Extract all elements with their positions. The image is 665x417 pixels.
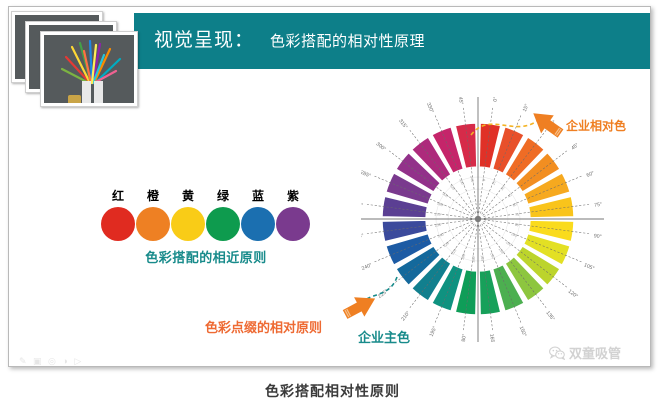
wechat-icon <box>549 346 565 360</box>
figure-caption: 色彩搭配相对性原则 <box>0 381 665 401</box>
watermark-faint-bottom-left: ✎ ▣ ◎ ◑ ▷ <box>19 356 83 367</box>
orange-dashed-connector <box>471 121 537 135</box>
watermark-wechat: 双童吸管 <box>549 343 621 362</box>
slide-canvas: 视觉呈现： 色彩搭配的相对性原理 <box>8 6 651 367</box>
watermark-wechat-label: 双童吸管 <box>569 343 621 362</box>
slide-screenshot: 视觉呈现： 色彩搭配的相对性原理 <box>0 0 665 417</box>
orange-arrow-bottom <box>340 289 380 324</box>
annotation-connectors <box>9 7 650 366</box>
